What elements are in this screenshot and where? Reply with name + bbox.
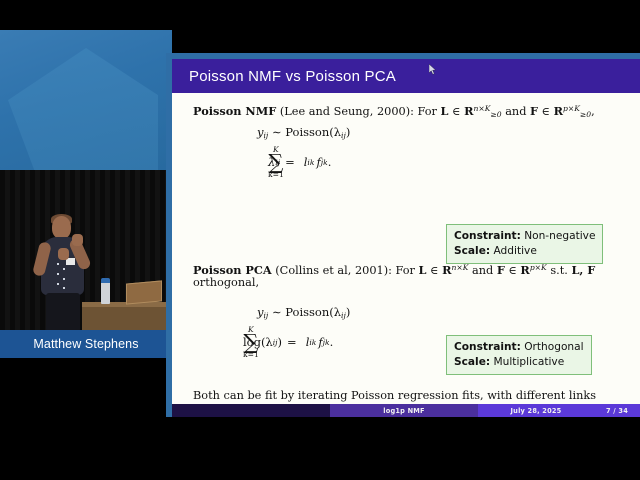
nmf-L-sub: ≥0 <box>490 110 501 119</box>
pca-L-sup: n×K <box>451 263 468 272</box>
nmf-equals: = <box>285 155 295 169</box>
pca-lead: For <box>396 264 415 277</box>
nmf-constraint-row: Constraint: Non-negative <box>454 229 595 244</box>
nmf-scale-value: Additive <box>494 245 537 257</box>
nmf-scale-row: Scale: Additive <box>454 244 595 259</box>
footer-page-number: 7 / 34 <box>594 407 640 415</box>
pca-equals: = <box>287 335 297 349</box>
pca-callout-box: Constraint: Orthogonal Scale: Multiplica… <box>446 335 592 375</box>
pca-eq-end: . <box>330 335 334 349</box>
speaker-head <box>52 216 71 239</box>
screen-capture: Matthew Stephens Poisson NMF vs Poisson … <box>0 0 640 480</box>
nmf-citation: (Lee and Seung, 2000): <box>280 105 414 118</box>
letterbox-top <box>0 0 640 30</box>
nmf-scale-label: Scale: <box>454 245 490 257</box>
speaker-legs <box>46 293 80 332</box>
speaker-right-hand <box>72 234 83 246</box>
pca-f-sub: jk <box>323 338 330 347</box>
pca-st: s.t. <box>550 264 568 277</box>
pca-log-lambda-end: ) <box>278 335 283 349</box>
nmf-summation: K ∑ k=1 <box>268 146 284 178</box>
footer-date: July 28, 2025 <box>478 407 594 415</box>
nmf-l-sub: ik <box>307 158 314 167</box>
pca-l-sub: ik <box>309 338 316 347</box>
footer-right-segment: July 28, 2025 7 / 34 <box>478 404 640 417</box>
pca-scale-label: Scale: <box>454 356 490 368</box>
slide-title: Poisson NMF vs Poisson PCA <box>189 68 396 85</box>
pca-scale-value: Multiplicative <box>494 356 565 368</box>
pca-sum-lower: k=1 <box>243 351 259 359</box>
pca-L-symbol: L <box>419 263 427 277</box>
pca-sigma-icon: ∑ <box>243 333 259 352</box>
slide-footer: log1p NMF July 28, 2025 7 / 34 <box>172 404 640 417</box>
pca-model-equation: yij ∼ Poisson(λij) <box>257 305 350 320</box>
speaker-video-panel[interactable]: Matthew Stephens <box>0 30 172 420</box>
pca-sum-equation: log(λij) = K ∑ k=1 likfjk. <box>243 335 333 349</box>
pca-constraint-value: Orthogonal <box>524 341 583 353</box>
closing-line-1: Both can be fit by iterating Poisson reg… <box>193 388 596 403</box>
pca-scale-row: Scale: Multiplicative <box>454 355 584 370</box>
pca-F-symbol: F <box>497 263 505 277</box>
water-bottle <box>101 280 110 304</box>
nmf-model-rhs-end: ) <box>346 125 351 139</box>
speaker-left-hand <box>58 248 69 260</box>
nmf-sum-lower: k=1 <box>268 171 284 179</box>
nmf-and: and <box>505 105 526 118</box>
speaker-name-label: Matthew Stephens <box>33 337 138 351</box>
nmf-constraint-label: Constraint: <box>454 230 521 242</box>
pca-model-tilde: ∼ <box>272 305 282 319</box>
nmf-L-sup: n×K <box>473 104 490 113</box>
nmf-model-tilde: ∼ <box>272 125 282 139</box>
nmf-sum-equation: λij = K ∑ k=1 likfjk. <box>268 155 331 169</box>
footer-talk-title: log1p NMF <box>330 404 478 417</box>
pca-and: and <box>472 264 493 277</box>
nmf-f-sub: jk <box>321 158 328 167</box>
pca-summation: K ∑ k=1 <box>243 326 259 358</box>
pca-F-sup: p×K <box>530 263 547 272</box>
stage-backdrop <box>0 30 172 170</box>
slide-header-bar: Poisson NMF vs Poisson PCA <box>172 59 640 93</box>
nmf-eq-end: . <box>328 155 332 169</box>
letterbox-bottom <box>0 420 640 480</box>
footer-left-segment <box>172 404 330 417</box>
nmf-label: Poisson NMF <box>193 104 276 118</box>
pca-in-2: ∈ <box>508 264 516 277</box>
slide-frame: Poisson NMF vs Poisson PCA Poisson NMF (… <box>166 53 640 417</box>
nmf-sigma-icon: ∑ <box>268 153 284 172</box>
nmf-callout-box: Constraint: Non-negative Scale: Additive <box>446 224 603 264</box>
nmf-model-equation: yij ∼ Poisson(λij) <box>257 125 350 140</box>
nmf-model-rhs: Poisson(λ <box>285 125 341 139</box>
nmf-L-symbol: L <box>441 104 449 118</box>
slide-body: Poisson NMF (Lee and Seung, 2000): For L… <box>172 93 640 404</box>
pca-F-space: R <box>520 263 529 277</box>
water-bottle-cap <box>101 278 110 283</box>
laptop-screen <box>126 280 162 304</box>
nmf-constraint-value: Non-negative <box>524 230 595 242</box>
pca-model-rhs-end: ) <box>346 305 351 319</box>
laptop <box>124 282 162 304</box>
nmf-F-symbol: F <box>530 104 538 118</box>
nmf-in-2: ∈ <box>542 105 550 118</box>
nmf-definition-line: Poisson NMF (Lee and Seung, 2000): For L… <box>193 101 595 122</box>
nmf-F-sub: ≥0 <box>580 110 591 119</box>
pca-definition-line-2: orthogonal, <box>193 275 259 290</box>
mouse-cursor-icon <box>429 64 436 75</box>
nmf-lead: For <box>418 105 437 118</box>
pca-citation: (Collins et al, 2001): <box>275 264 392 277</box>
pca-constraint-label: Constraint: <box>454 341 521 353</box>
nmf-F-sup: p×K <box>563 104 580 113</box>
backdrop-shape <box>8 48 158 172</box>
pca-st-vars: L, F <box>571 263 595 277</box>
nmf-trailer: , <box>591 105 595 118</box>
speaker-name-banner: Matthew Stephens <box>0 330 172 358</box>
pca-model-rhs: Poisson(λ <box>285 305 341 319</box>
pca-constraint-row: Constraint: Orthogonal <box>454 340 584 355</box>
dna-helix-graphic-icon <box>56 260 66 290</box>
presentation-slide[interactable]: Poisson NMF vs Poisson PCA Poisson NMF (… <box>172 59 640 417</box>
video-lower-dark <box>0 358 172 420</box>
nmf-F-space: R <box>554 104 563 118</box>
